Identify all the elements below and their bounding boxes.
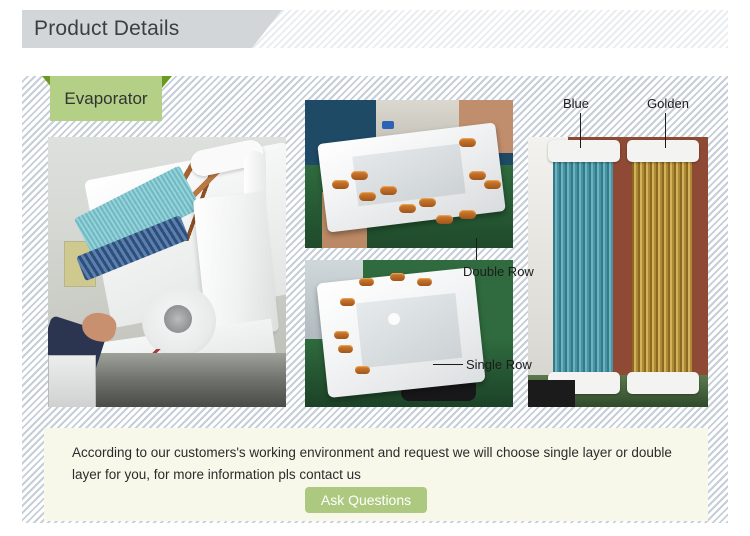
note-text: According to our customers's working env… [72,442,672,486]
copper-tube-hole [469,171,486,180]
leader-line-golden [665,113,666,148]
coil-end-cap [627,372,699,394]
fan-motor-hub [164,305,192,333]
photo-evaporator-indoor-unit [48,137,286,407]
copper-tube-hole [351,171,368,180]
photo-double-row-drain-pan [305,100,513,248]
copper-tube-hole [380,186,397,195]
label-double-row: Double Row [463,264,534,279]
copper-tube-hole [355,366,370,374]
golden-fin-coil [632,153,691,391]
photo-single-row-drain-pan [305,260,513,407]
copper-tube-hole [459,210,476,219]
ask-questions-button[interactable]: Ask Questions [305,487,427,513]
coil-end-cap [627,140,699,162]
dark-foreground-object [528,380,575,407]
copper-tube-hole [359,278,374,286]
header-hatch-pattern [252,10,728,48]
label-blue: Blue [563,96,589,111]
copper-tube-hole [334,331,349,339]
label-single-row: Single Row [466,357,532,372]
content-panel: Blue Golden Double Row Single Row Accord… [22,76,728,523]
blue-coated-fin-coil [553,153,612,391]
leader-line-single-row [433,364,463,365]
copper-tube-hole [338,345,353,353]
page-title: Product Details [34,10,179,48]
tab-label: Evaporator [50,76,162,121]
drain-pan-cavity [356,293,462,368]
background-cabinet [48,355,96,407]
section-tab-evaporator[interactable]: Evaporator [42,76,170,121]
leader-line-double-row [476,238,477,260]
copper-tube-hole [417,278,432,286]
photo-blue-golden-coils [528,137,708,407]
copper-tube-hole [340,298,355,306]
copper-tube-hole [359,192,376,201]
label-golden: Golden [647,96,689,111]
page-header: Product Details [0,0,750,60]
coil-end-cap [548,140,620,162]
copper-tube-hole [390,273,405,281]
leader-line-blue [580,113,581,148]
copper-tube-hole [484,180,501,189]
copper-tube-hole [399,204,416,213]
white-knob [388,313,400,325]
copper-tube-hole [332,180,349,189]
copper-tube-hole [459,138,476,147]
blue-clip [382,121,394,129]
copper-tube-hole [436,215,453,224]
note-box: According to our customers's working env… [44,428,708,521]
copper-tube-hole [419,198,436,207]
